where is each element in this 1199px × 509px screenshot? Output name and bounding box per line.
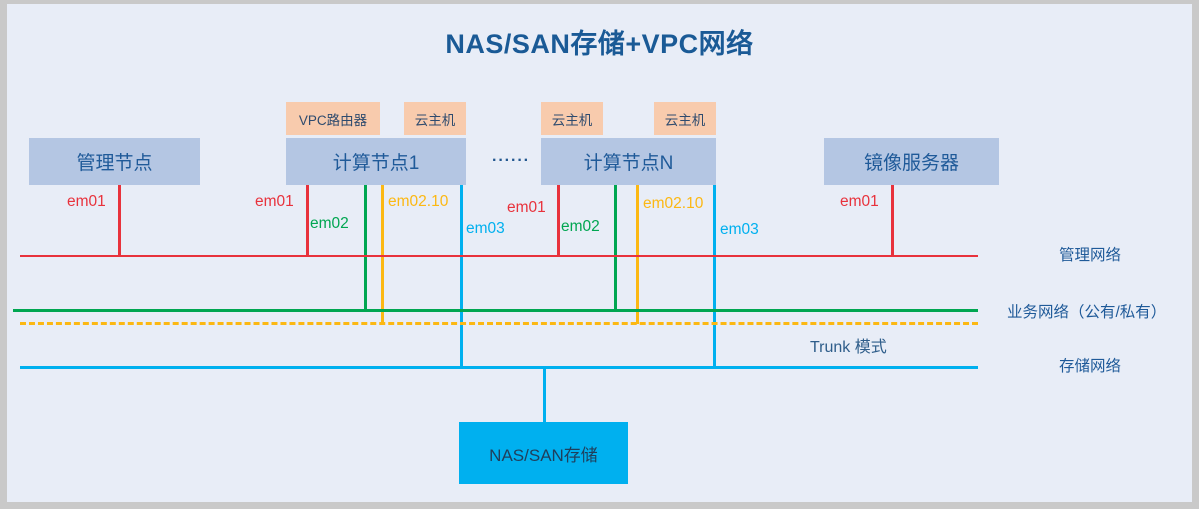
diagram-sheet: NAS/SAN存储+VPC网络 VPC路由器 云主机 云主机 云主机 管理节点 …: [7, 4, 1192, 502]
node-label: 计算节点N: [584, 148, 674, 175]
diagram-canvas: NAS/SAN存储+VPC网络 VPC路由器 云主机 云主机 云主机 管理节点 …: [0, 0, 1199, 509]
node-label: 镜像服务器: [864, 148, 959, 175]
bus-trunk-network: [20, 322, 978, 325]
link-storage-drop: [543, 368, 546, 422]
iface-label-compute-node-1-em01: em01: [255, 193, 294, 211]
iface-label-mgmt-node-em01: em01: [67, 193, 106, 211]
network-label-mgmt: 管理网络: [1059, 243, 1121, 265]
link-compute-node-n-em01: [557, 185, 560, 255]
iface-label-compute-node-1-em02: em02: [310, 215, 349, 233]
vm-label: 云主机: [415, 109, 456, 129]
bus-mgmt-network: [20, 255, 978, 257]
node-label: 管理节点: [76, 148, 152, 175]
node-box-compute-node-1[interactable]: 计算节点1: [286, 138, 466, 185]
node-box-mgmt-node[interactable]: 管理节点: [29, 138, 200, 185]
link-compute-node-1-em03: [460, 185, 463, 368]
node-box-image-server[interactable]: 镜像服务器: [824, 138, 999, 185]
iface-label-compute-node-n-em03: em03: [720, 221, 759, 239]
vm-box-cloud-host-2[interactable]: 云主机: [541, 102, 603, 135]
vm-label: 云主机: [552, 109, 593, 129]
iface-label-compute-node-1-em0210: em02.10: [388, 193, 448, 211]
page-title: NAS/SAN存储+VPC网络: [7, 22, 1192, 61]
iface-label-compute-node-n-em01: em01: [507, 199, 546, 217]
link-mgmt-node-em01: [118, 185, 121, 255]
link-compute-node-n-em03: [713, 185, 716, 368]
iface-label-compute-node-1-em03: em03: [466, 220, 505, 238]
network-label-storage: 存储网络: [1059, 354, 1121, 376]
trunk-mode-label: Trunk 模式: [810, 333, 887, 357]
network-label-business: 业务网络（公有/私有）: [1007, 300, 1166, 322]
ellipsis-between-nodes: ······: [484, 152, 538, 170]
link-compute-node-1-em01: [306, 185, 309, 255]
bus-business-network: [13, 309, 978, 312]
vm-label: 云主机: [665, 109, 706, 129]
link-image-server-em01: [891, 185, 894, 255]
link-compute-node-n-em02: [614, 185, 617, 309]
link-compute-node-1-em02: [364, 185, 367, 309]
node-label: 计算节点1: [333, 148, 420, 175]
storage-label: NAS/SAN存储: [489, 441, 598, 466]
vm-box-vpc-router[interactable]: VPC路由器: [286, 102, 380, 135]
storage-box-nas-san[interactable]: NAS/SAN存储: [459, 422, 628, 484]
iface-label-image-server-em01: em01: [840, 193, 879, 211]
iface-label-compute-node-n-em0210: em02.10: [643, 195, 703, 213]
vm-box-cloud-host-1[interactable]: 云主机: [404, 102, 466, 135]
vm-label: VPC路由器: [299, 109, 367, 129]
bus-storage-network: [20, 366, 978, 369]
iface-label-compute-node-n-em02: em02: [561, 218, 600, 236]
node-box-compute-node-n[interactable]: 计算节点N: [541, 138, 716, 185]
vm-box-cloud-host-3[interactable]: 云主机: [654, 102, 716, 135]
